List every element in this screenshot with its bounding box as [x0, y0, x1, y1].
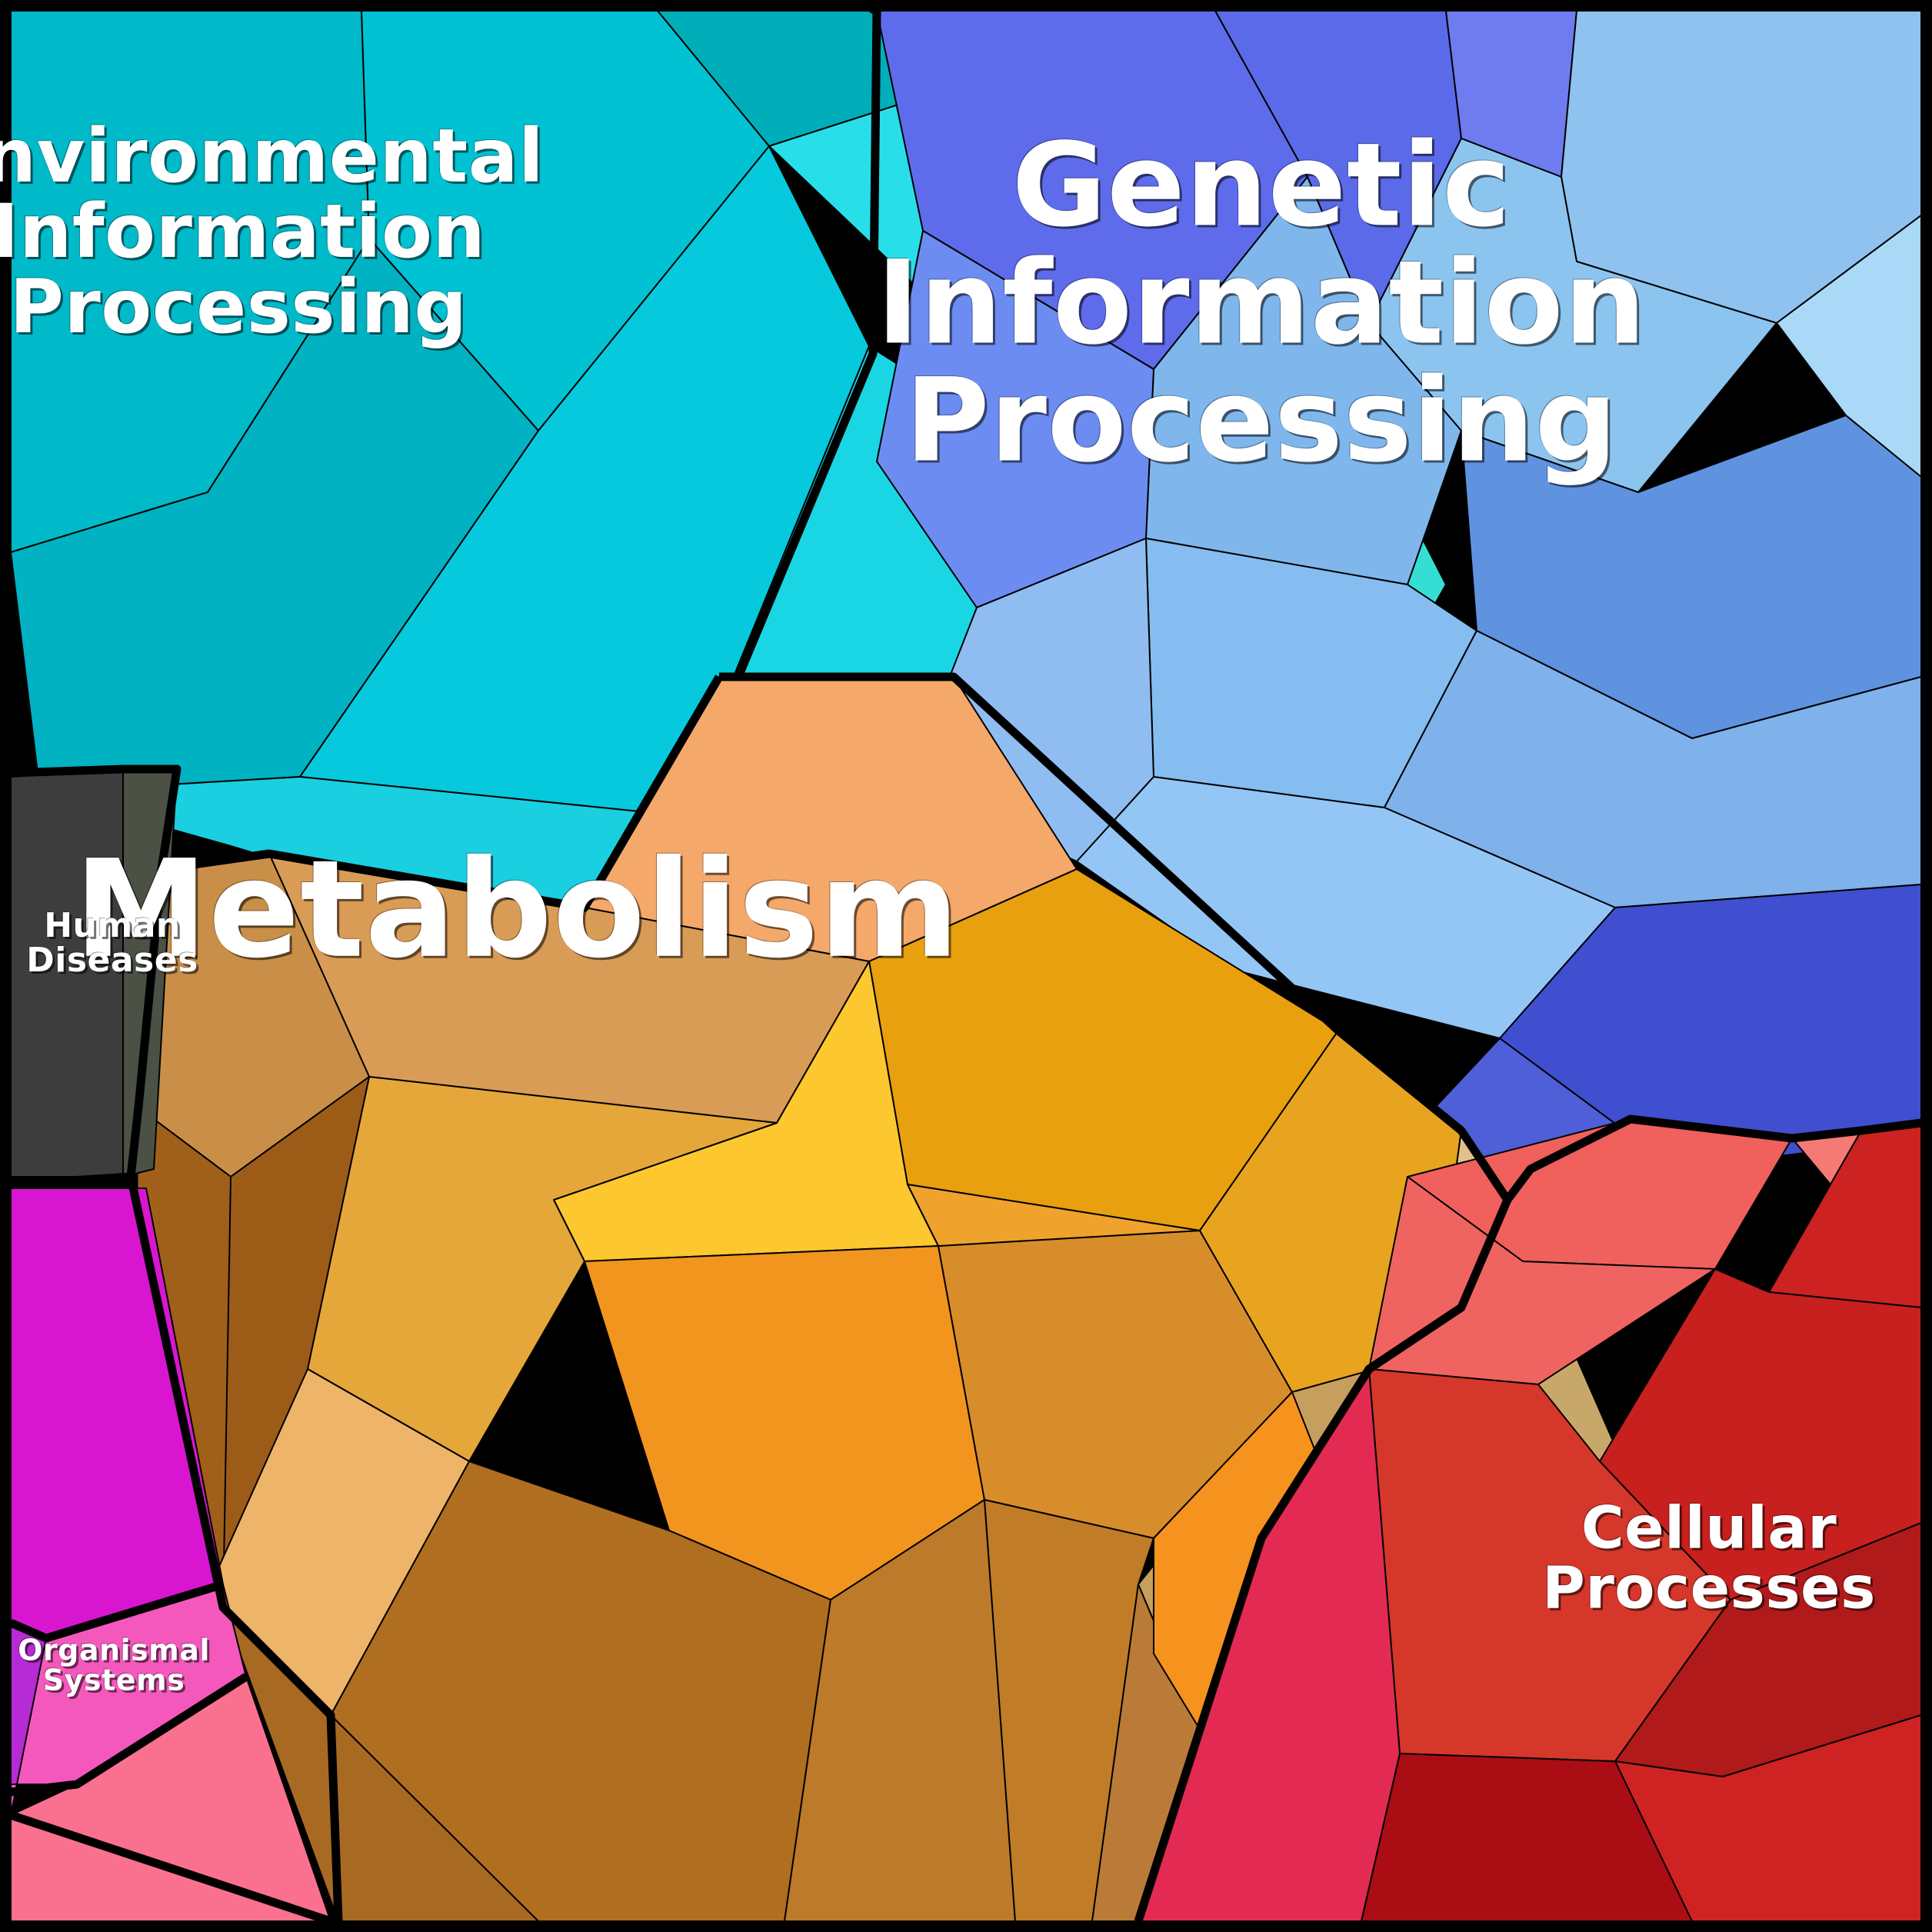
treemap-svg — [0, 0, 1932, 1932]
voronoi-treemap-figure: Environmental Information Processing Gen… — [0, 0, 1932, 1932]
voronoi-cell-human — [11, 769, 123, 1177]
voronoi-cells-layer — [11, 11, 1921, 1921]
